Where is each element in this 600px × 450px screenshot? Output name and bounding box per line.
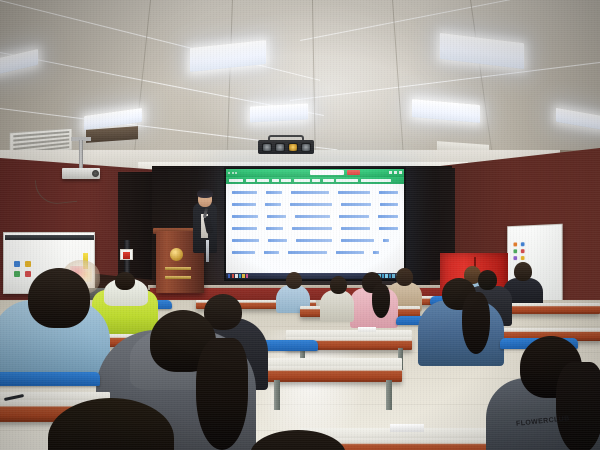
spotlight-lamp [301, 143, 311, 152]
spotlight-lamp-amber [288, 143, 298, 152]
toolbar-button[interactable] [361, 179, 391, 182]
toolbar-button[interactable] [312, 179, 320, 182]
data-cell [296, 239, 332, 242]
data-cell [267, 215, 286, 218]
lectern-trim [165, 267, 191, 270]
data-cell [264, 251, 279, 254]
spotlight-lamp [275, 143, 285, 152]
whiteboard-magnets [513, 242, 525, 260]
tray-icon[interactable] [389, 274, 391, 278]
ceiling-light-panel [250, 103, 308, 122]
taskbar-icon[interactable] [235, 274, 237, 278]
data-cell [380, 203, 398, 206]
projected-application-window [226, 169, 404, 279]
data-cell [232, 191, 257, 194]
spotlight-lamp [262, 143, 272, 152]
minimize-icon[interactable] [389, 171, 392, 174]
whiteboard-magnets [14, 261, 32, 277]
data-cell [288, 251, 327, 254]
data-cell [338, 191, 370, 194]
data-cell [379, 191, 398, 194]
data-cell [379, 227, 398, 230]
tray-icon[interactable] [382, 274, 384, 278]
taskbar-icon[interactable] [239, 274, 241, 278]
taskbar-icon[interactable] [228, 274, 230, 278]
primary-action-button[interactable] [347, 170, 360, 175]
data-row[interactable] [232, 215, 398, 218]
data-cell [292, 227, 333, 230]
projection-screen [224, 167, 406, 281]
data-cell [336, 251, 364, 254]
data-cell [295, 215, 330, 218]
maximize-icon[interactable] [394, 171, 397, 174]
app-title-bar [226, 169, 404, 177]
toolbar-button[interactable] [272, 179, 279, 182]
taskbar-left-icons[interactable] [228, 274, 248, 278]
tray-icon[interactable] [392, 274, 394, 278]
window-controls[interactable] [389, 171, 402, 174]
toolbar-button[interactable] [229, 179, 243, 182]
notebook [390, 424, 424, 432]
app-menu-icon[interactable] [228, 172, 237, 174]
data-cell [266, 191, 283, 194]
data-cell [341, 203, 371, 206]
projector-lens-icon [92, 170, 99, 177]
tray-icon[interactable] [385, 274, 387, 278]
data-cell [266, 227, 283, 230]
notebook [358, 327, 376, 332]
chair-back [0, 372, 100, 386]
toolbar-button[interactable] [246, 179, 255, 182]
microphone-stand [206, 240, 209, 262]
projector-drop-pole [79, 140, 83, 170]
data-cell [268, 239, 287, 242]
stage-light-bar-icon [258, 140, 314, 154]
toolbar-button[interactable] [336, 179, 358, 182]
desk-leg [274, 380, 280, 410]
app-toolbar[interactable] [226, 177, 404, 184]
data-cell [232, 239, 259, 242]
data-row[interactable] [232, 251, 398, 254]
data-cell [378, 215, 398, 218]
app-data-grid [226, 184, 404, 279]
data-cell [291, 191, 329, 194]
desk-leg [386, 380, 392, 410]
fire-safety-sign-icon [120, 249, 133, 260]
data-cell [373, 251, 379, 254]
data-cell [232, 251, 255, 254]
data-cell [383, 239, 389, 242]
whiteboard-rail [5, 235, 94, 240]
data-row[interactable] [232, 227, 398, 230]
lecture-hall-photo: FLOWERCLUB [0, 0, 600, 450]
taskbar-icon[interactable] [246, 274, 248, 278]
search-input[interactable] [310, 170, 344, 175]
data-cell [232, 227, 257, 230]
taskbar-icon[interactable] [242, 274, 244, 278]
taskbar-icon[interactable] [232, 274, 234, 278]
data-cell [341, 227, 370, 230]
close-icon[interactable] [399, 171, 402, 174]
data-row[interactable] [232, 239, 398, 242]
data-cell [339, 215, 369, 218]
data-cell [265, 203, 281, 206]
data-row[interactable] [232, 191, 398, 194]
data-cell [290, 203, 332, 206]
toolbar-button[interactable] [323, 179, 334, 182]
data-row[interactable] [232, 203, 398, 206]
toolbar-button[interactable] [294, 179, 310, 182]
data-cell [232, 203, 256, 206]
institution-emblem-icon [170, 248, 183, 261]
toolbar-button[interactable] [257, 179, 269, 182]
data-cell [341, 239, 374, 242]
lectern-trim [165, 276, 191, 279]
data-cell [232, 215, 258, 218]
toolbar-button[interactable] [281, 179, 291, 182]
presenter-hair [197, 189, 213, 198]
